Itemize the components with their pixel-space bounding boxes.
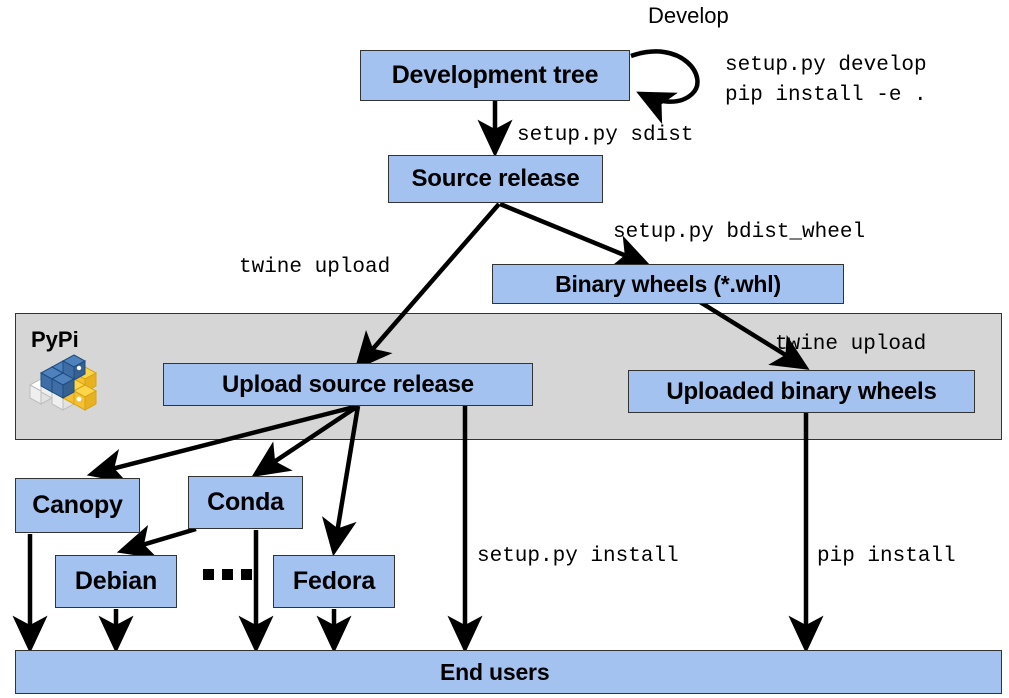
node-source-release[interactable]: Source release [388, 155, 603, 203]
node-canopy[interactable]: Canopy [15, 478, 140, 533]
edge-develop-selfloop [631, 51, 697, 101]
node-upload-source-release[interactable]: Upload source release [163, 363, 533, 406]
diagram-canvas: PyPi [0, 0, 1009, 698]
edge-label-setup-sdist: setup.py sdist [517, 122, 693, 150]
node-binary-wheels[interactable]: Binary wheels (*.whl) [492, 264, 844, 304]
node-uploaded-binary-wheels[interactable]: Uploaded binary wheels [628, 370, 975, 413]
node-debian[interactable]: Debian [55, 555, 177, 608]
edge-upload-to-conda [256, 406, 358, 474]
edge-label-setup-bdist-wheel: setup.py bdist_wheel [613, 219, 865, 247]
edge-label-pip-install: pip install [817, 543, 956, 571]
edge-upload-to-canopy [92, 406, 358, 474]
edge-label-setup-install: setup.py install [477, 543, 679, 571]
node-conda[interactable]: Conda [188, 476, 303, 529]
node-development-tree[interactable]: Development tree [360, 50, 630, 101]
edge-upload-to-fedora [334, 406, 358, 551]
edge-label-pip-install-e: pip install -e . [725, 82, 927, 110]
edge-label-twine-upload-wheels: twine upload [775, 331, 926, 359]
node-end-users[interactable]: End users [15, 650, 1002, 694]
edge-label-develop: Develop [648, 3, 729, 29]
node-fedora[interactable]: Fedora [273, 555, 395, 608]
edge-label-twine-upload-source: twine upload [239, 254, 390, 282]
edge-source-to-upload-source [358, 204, 499, 366]
edge-label-setup-develop: setup.py develop [725, 52, 927, 80]
node-end-users-label: End users [440, 659, 549, 686]
